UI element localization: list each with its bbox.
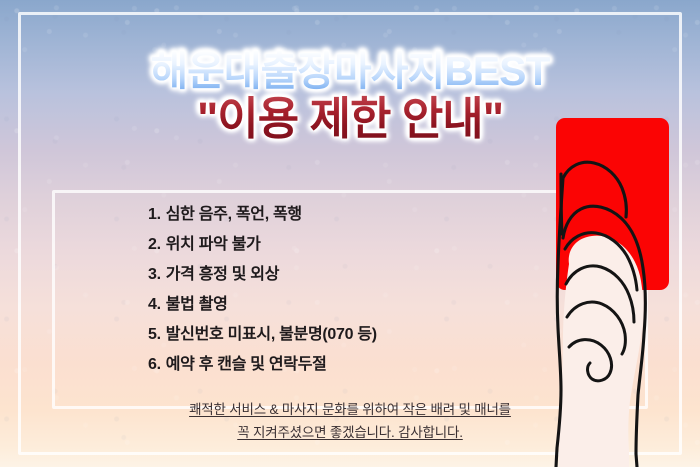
footer-line-2: 꼭 지켜주셨으면 좋겠습니다. 감사합니다. <box>60 421 640 444</box>
list-item-label: 발신번호 미표시, 불분명(070 등) <box>166 327 377 343</box>
list-item-number: 5. <box>148 327 161 343</box>
list-item: 2. 위치 파악 불가 <box>148 230 377 260</box>
footer-line-1: 쾌적한 서비스 & 마사지 문화를 위하여 작은 배려 및 매너를 <box>60 398 640 421</box>
list-item-number: 2. <box>148 237 161 253</box>
footer-note: 쾌적한 서비스 & 마사지 문화를 위하여 작은 배려 및 매너를 꼭 지켜주셨… <box>60 398 640 444</box>
restriction-list: 1. 심한 음주, 폭언, 폭행 2. 위치 파악 불가 3. 가격 흥정 및 … <box>148 200 377 380</box>
headline-secondary: "이용 제한 안내" <box>0 95 700 144</box>
poster: 해운대출장마사지BEST "이용 제한 안내" 1. 심한 음주, 폭언, 폭행… <box>0 0 700 467</box>
list-item-number: 6. <box>148 357 161 373</box>
list-item-number: 1. <box>148 207 161 223</box>
list-item-label: 심한 음주, 폭언, 폭행 <box>166 207 302 223</box>
headline-primary: 해운대출장마사지BEST <box>0 50 700 93</box>
list-item-label: 가격 흥정 및 외상 <box>166 267 279 283</box>
list-item: 5. 발신번호 미표시, 불분명(070 등) <box>148 320 377 350</box>
list-item: 1. 심한 음주, 폭언, 폭행 <box>148 200 377 230</box>
list-item-label: 예약 후 캔슬 및 연락두절 <box>166 357 327 373</box>
list-item-label: 위치 파악 불가 <box>166 237 261 253</box>
title-block: 해운대출장마사지BEST "이용 제한 안내" <box>0 50 700 144</box>
list-item-number: 3. <box>148 267 161 283</box>
list-item: 3. 가격 흥정 및 외상 <box>148 260 377 290</box>
list-item: 4. 불법 촬영 <box>148 290 377 320</box>
list-item-number: 4. <box>148 297 161 313</box>
list-item: 6. 예약 후 캔슬 및 연락두절 <box>148 350 377 380</box>
list-item-label: 불법 촬영 <box>166 297 228 313</box>
